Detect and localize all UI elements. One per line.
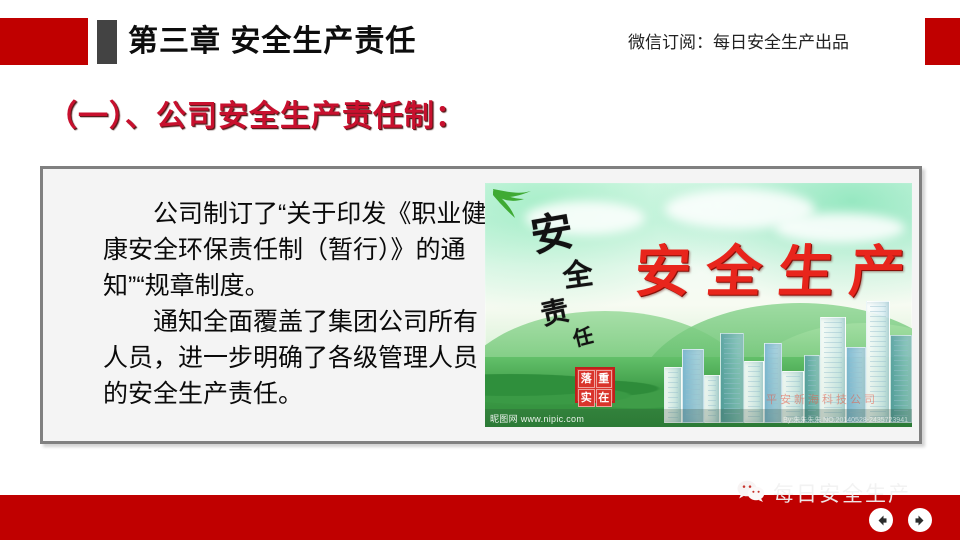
red-seal-stamp: 落 重 实 在 [575,367,615,403]
calligraphy-safety-responsibility: 安 全 责 任 [529,209,625,359]
calligraphy-char: 安 [528,210,577,259]
slogan-char: 产 [847,241,907,303]
poster-watermark-site: 昵图网 www.nipic.com [490,412,584,425]
building-shape [820,317,846,423]
seal-char: 在 [596,389,613,407]
header-red-block-left [0,18,88,65]
section-heading: （一）、公司安全生产责任制： [47,96,466,138]
arrow-right-icon [914,514,927,527]
page-title: 第三章 安全生产责任 [128,22,416,62]
calligraphy-char: 任 [571,325,595,349]
safety-poster-image: 安 全 责 任 落 重 实 在 安 全 生 产 平安新海科技公司 昵 [485,183,912,427]
footer-brand: 每日安全生产 [736,476,911,510]
slogan-char: 安 [633,241,693,303]
slogan-char: 全 [704,241,764,303]
slogan-char: 生 [775,241,835,303]
next-slide-button[interactable] [908,508,932,532]
content-box: 公司制订了“关于印发《职业健康安全环保责任制（暂行）》的通知”“规章制度。 通知… [40,166,922,444]
prev-slide-button[interactable] [869,508,893,532]
slide-canvas: 第三章 安全生产责任 微信订阅：每日安全生产出品 （一）、公司安全生产责任制： … [0,0,960,540]
calligraphy-char: 责 [538,296,571,329]
calligraphy-char: 全 [561,259,595,293]
poster-watermark-company: 平安新海科技公司 [766,391,878,407]
body-paragraph-1: 公司制订了“关于印发《职业健康安全环保责任制（暂行）》的通知”“规章制度。 [103,196,493,304]
poster-watermark-id: By:朱朱朱朱 NO.20140528-2435723941 [783,415,908,425]
body-paragraph-2: 通知全面覆盖了集团公司所有人员，进一步明确了各级管理人员的安全生产责任。 [103,304,493,412]
header-gray-bar [97,20,117,64]
wechat-icon [736,479,766,508]
footer-brand-label: 每日安全生产 [773,478,911,508]
seal-char: 实 [578,389,595,407]
wechat-subscribe-note: 微信订阅：每日安全生产出品 [628,31,849,55]
poster-slogan: 安 全 生 产 [635,241,905,303]
seal-char: 落 [578,370,595,388]
header-red-block-right [925,18,960,65]
seal-char: 重 [596,370,613,388]
arrow-left-icon [875,514,888,527]
body-text-block: 公司制订了“关于印发《职业健康安全环保责任制（暂行）》的通知”“规章制度。 通知… [103,196,493,412]
